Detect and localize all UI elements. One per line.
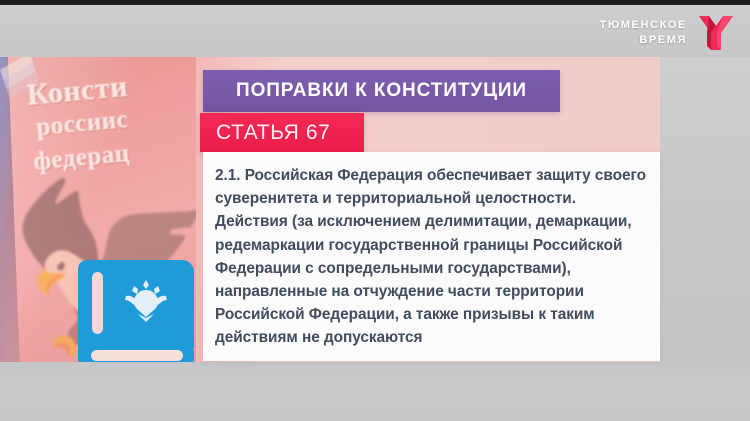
channel-logo: ТЮМЕНСКОЕ ВРЕМЯ: [600, 12, 736, 54]
book-pages: [91, 350, 183, 361]
constitution-book-icon: [78, 260, 194, 362]
topic-banner: ПОПРАВКИ К КОНСТИТУЦИИ: [203, 70, 560, 112]
article-banner-label: СТАТЬЯ 67: [216, 121, 330, 145]
article-text-panel: 2.1. Российская Федерация обеспечивает з…: [203, 152, 660, 361]
letterbox-bottom: [0, 362, 750, 421]
y-logo-icon: [696, 12, 736, 54]
channel-logo-line1: ТЮМЕНСКОЕ: [600, 18, 687, 33]
topic-banner-label: ПОПРАВКИ К КОНСТИТУЦИИ: [236, 80, 527, 102]
article-banner: СТАТЬЯ 67: [200, 113, 364, 152]
book-body: [78, 260, 194, 352]
broadcast-frame: Консти россиис федерац 🦅: [0, 0, 750, 421]
channel-logo-text: ТЮМЕНСКОЕ ВРЕМЯ: [600, 18, 687, 48]
book-emblem-icon: [118, 274, 174, 340]
right-letterbox: [660, 57, 750, 362]
article-text: 2.1. Российская Федерация обеспечивает з…: [215, 164, 646, 350]
book-bookmark: [92, 272, 103, 334]
channel-logo-line2: ВРЕМЯ: [639, 33, 687, 48]
